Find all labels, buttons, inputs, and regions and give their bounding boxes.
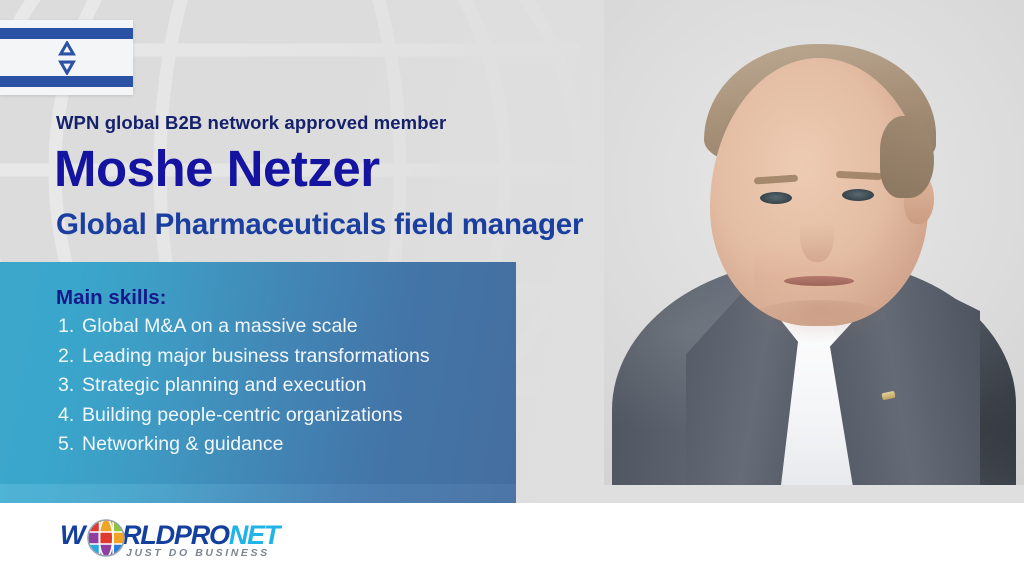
logo-text-accent: NET xyxy=(229,520,279,550)
person-role: Global Pharmaceuticals field manager xyxy=(56,208,583,242)
list-item-label: Global M&A on a massive scale xyxy=(82,315,358,337)
list-item: 2.Leading major business transformations xyxy=(58,342,430,372)
list-item-number: 4. xyxy=(58,401,82,431)
profile-card: WPN global B2B network approved member M… xyxy=(0,0,1024,576)
list-item-number: 5. xyxy=(58,430,82,460)
list-item-number: 2. xyxy=(58,342,82,372)
flag-stripe-top xyxy=(0,28,133,39)
list-item-label: Leading major business transformations xyxy=(82,345,430,367)
list-item: 3.Strategic planning and execution xyxy=(58,371,430,401)
eye-right xyxy=(842,189,874,201)
globe-icon xyxy=(86,518,126,558)
cheek-shading xyxy=(754,244,894,304)
eye-left xyxy=(760,192,792,204)
list-item-label: Strategic planning and execution xyxy=(82,374,367,396)
chin-shading xyxy=(744,300,894,344)
portrait-photo xyxy=(604,0,1024,485)
israel-flag xyxy=(0,20,133,95)
list-item-label: Building people-centric organizations xyxy=(82,404,403,426)
list-item: 1.Global M&A on a massive scale xyxy=(58,312,430,342)
list-item: 4.Building people-centric organizations xyxy=(58,401,430,431)
membership-eyebrow: WPN global B2B network approved member xyxy=(56,112,446,134)
logo-letter-w: W xyxy=(60,520,84,551)
person-name: Moshe Netzer xyxy=(54,139,380,198)
list-item: 5.Networking & guidance xyxy=(58,430,430,460)
list-item-label: Networking & guidance xyxy=(82,433,284,455)
list-item-number: 1. xyxy=(58,312,82,342)
mouth xyxy=(784,276,854,286)
logo-text-middle: RLDPRO xyxy=(122,520,229,550)
list-item-number: 3. xyxy=(58,371,82,401)
flag-stripe-bottom xyxy=(0,76,133,87)
worldpronet-logo[interactable]: W RLDPRONET xyxy=(60,515,260,561)
skills-list: 1.Global M&A on a massive scale 2.Leadin… xyxy=(58,312,430,460)
star-of-david-icon xyxy=(50,41,84,75)
skills-title: Main skills: xyxy=(56,286,167,310)
logo-tagline: JUST DO BUSINESS xyxy=(126,547,270,559)
